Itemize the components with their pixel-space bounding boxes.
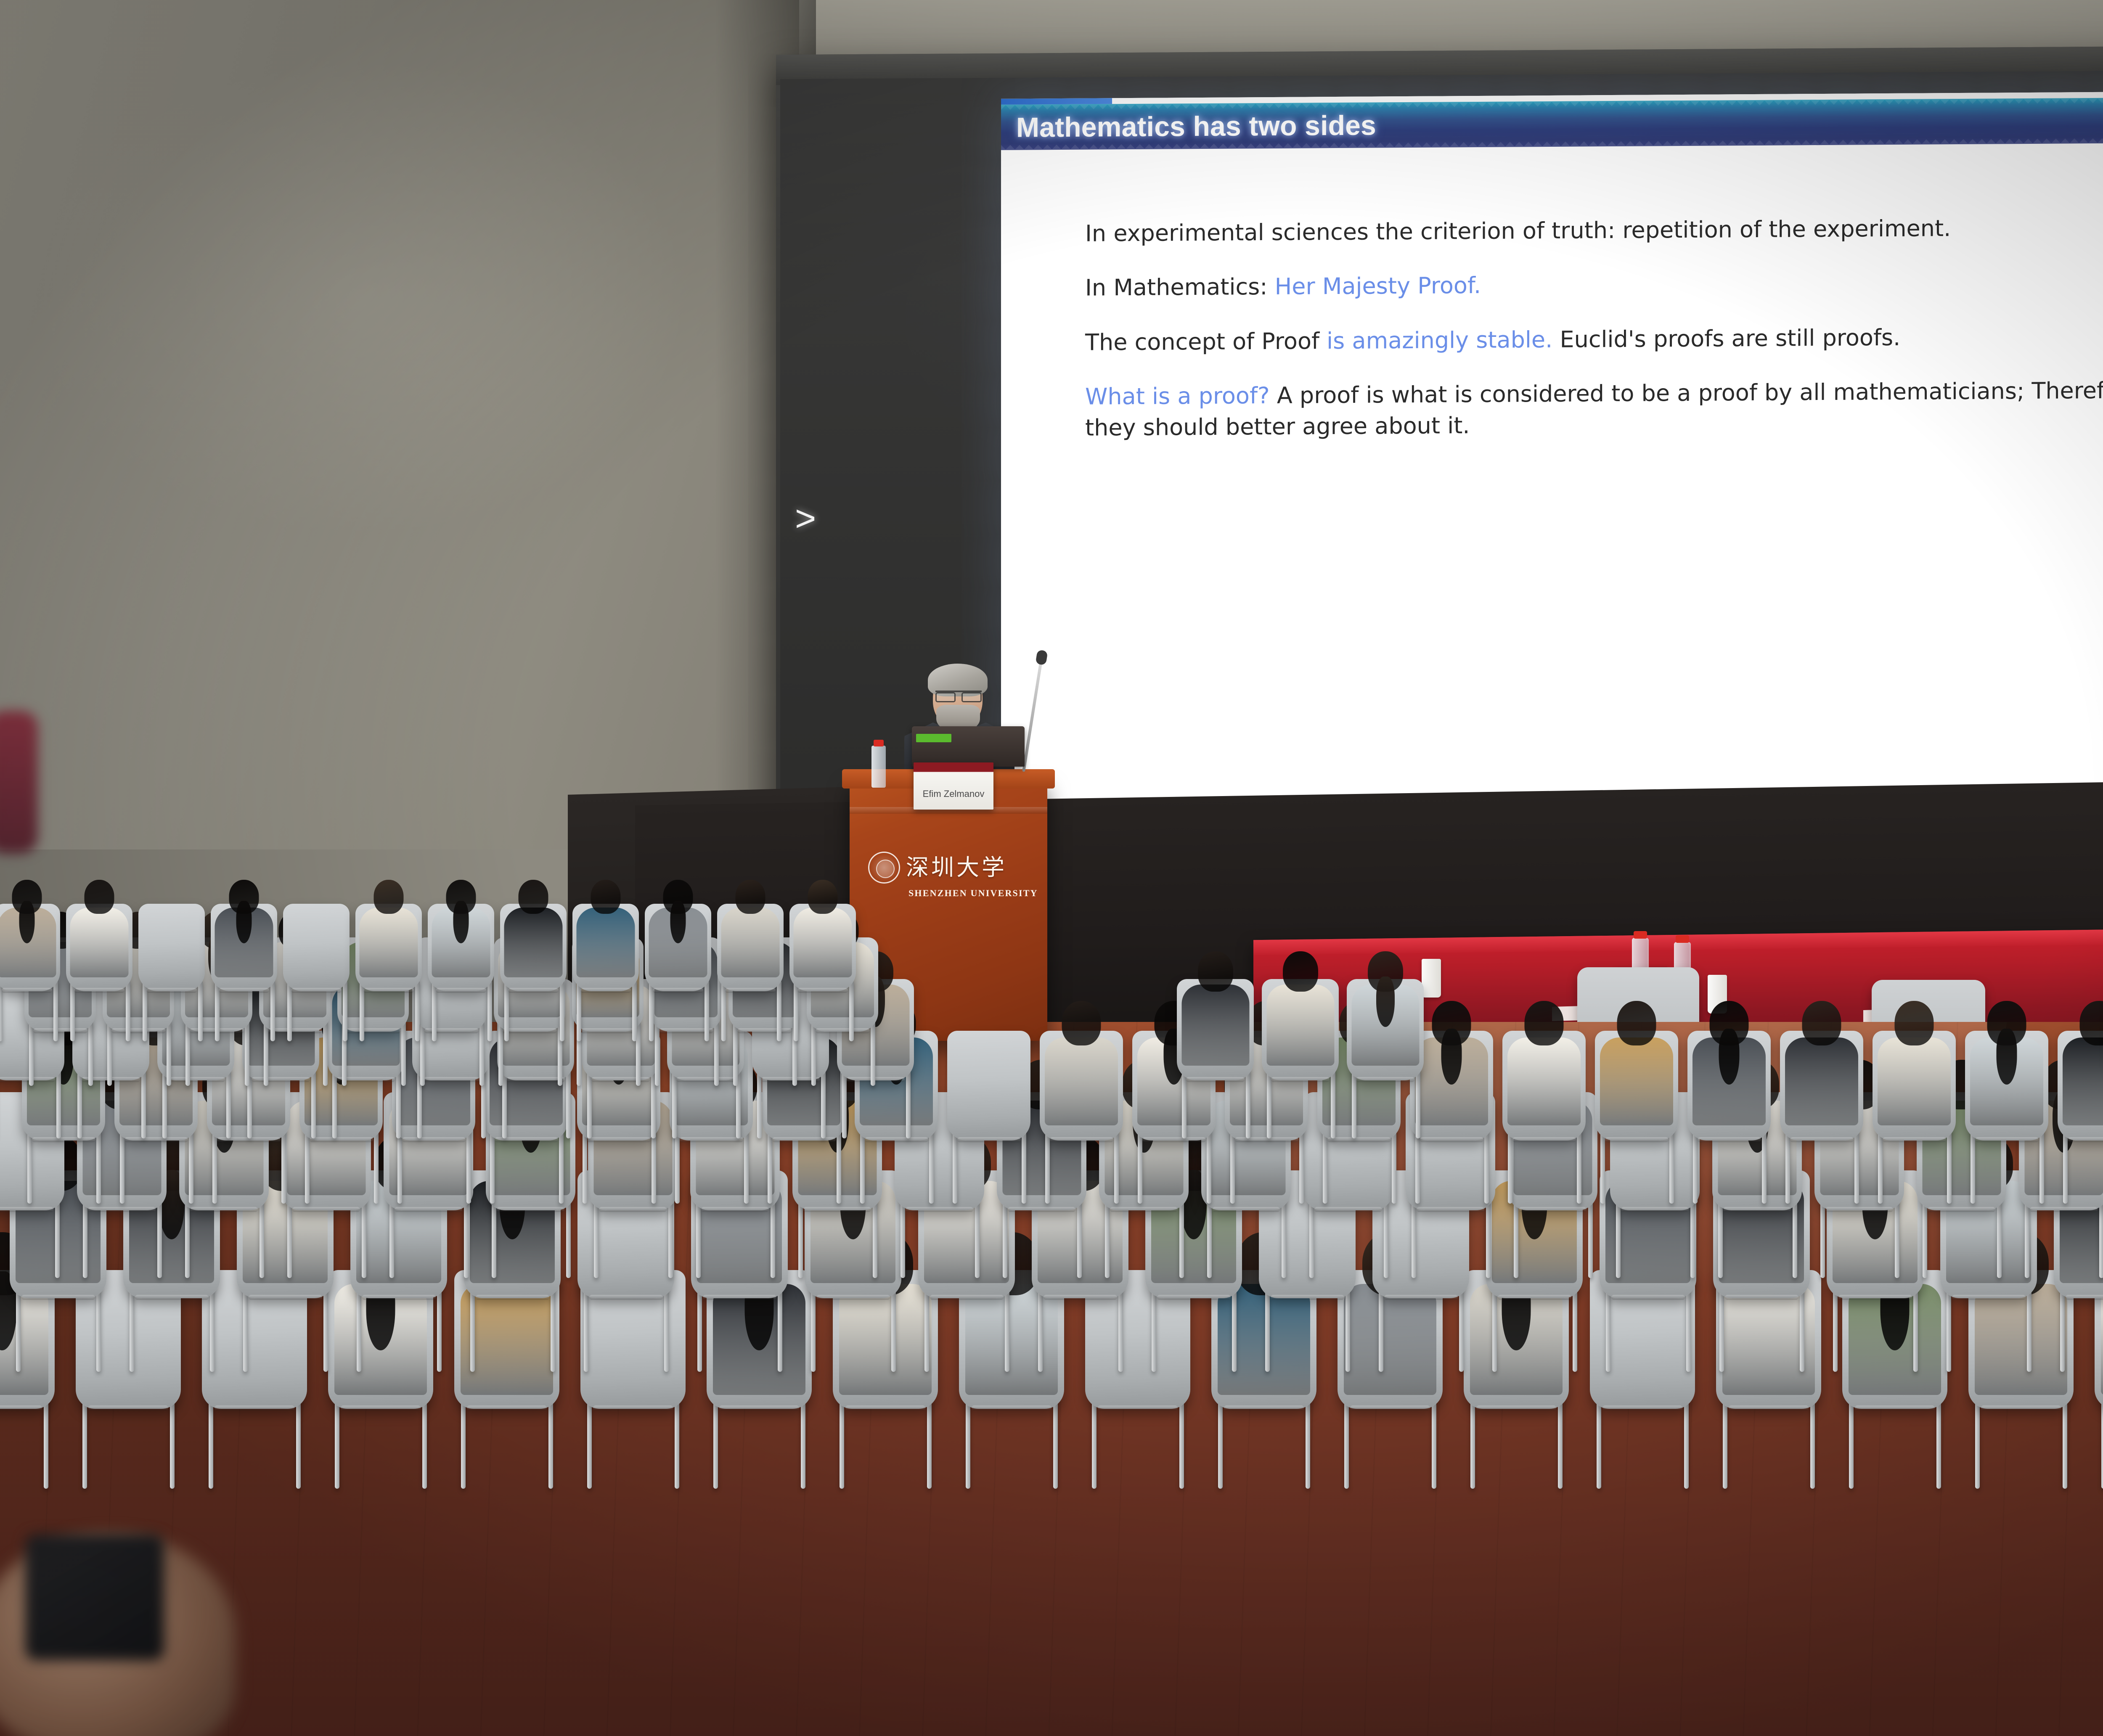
audience-member-ponytail (453, 901, 469, 943)
audience-member-head (591, 880, 621, 914)
audience-member-torso (504, 908, 563, 977)
audience-member-torso (1045, 1037, 1118, 1125)
chair-leg (55, 1196, 60, 1278)
audience-member (1347, 951, 1424, 1103)
audience-member-head (1617, 1001, 1656, 1045)
audience-member (1965, 1001, 2048, 1161)
chair-leg (664, 1283, 669, 1372)
chair-leg (1459, 1283, 1464, 1372)
audience-member-torso (1785, 1037, 1858, 1125)
audience-member (1873, 1001, 1956, 1161)
audience-member-torso (794, 908, 852, 977)
audience-member-head (808, 880, 838, 914)
body-text: In Mathematics: (1085, 273, 1275, 301)
presentation-slide: Mathematics has two sides In experimenta… (1001, 91, 2103, 826)
audience-member-ponytail (1441, 1029, 1462, 1085)
podium-branding: 深圳大学 (868, 852, 1036, 884)
slide-paragraph: In experimental sciences the criterion o… (1085, 212, 2103, 249)
university-name-en: SHENZHEN UNIVERSITY (908, 888, 1038, 899)
audience-chair (138, 904, 205, 991)
chair-leg (1690, 1196, 1695, 1278)
audience-member-torso (1181, 984, 1249, 1066)
slide-title: Mathematics has two sides (1016, 109, 1376, 143)
slide-body-text: In experimental sciences the criterion o… (1085, 212, 2103, 467)
accent-text: What is a proof? (1085, 382, 1270, 410)
audience-member (1262, 951, 1339, 1103)
chair-leg (1022, 1127, 1026, 1204)
audience-member (211, 880, 277, 1018)
audience-member (66, 880, 132, 1018)
chair-leg (1486, 1196, 1491, 1278)
foreground-phone (25, 1534, 164, 1660)
audience-member (500, 880, 567, 1018)
chair-leg (1384, 1196, 1388, 1278)
audience-member (428, 880, 494, 1018)
slide-title-bar: Mathematics has two sides (1001, 97, 2103, 150)
university-name-cn: 深圳大学 (906, 856, 1007, 879)
chair-leg (479, 1020, 484, 1086)
audience-member-head (2080, 1001, 2103, 1045)
audience-member-ponytail (236, 901, 252, 943)
audience-member-ponytail (1719, 1029, 1740, 1085)
accent-text: Her Majesty Proof. (1275, 272, 1481, 300)
audience-member-torso (360, 908, 418, 977)
audience-chair (283, 904, 350, 991)
audience-member-ponytail (1997, 1029, 2017, 1085)
slide-paragraph: What is a proof? A proof is what is cons… (1085, 375, 2103, 443)
paper-cup (1422, 959, 1441, 998)
audience-member-ponytail (19, 901, 35, 943)
chair-leg (141, 1068, 146, 1138)
audience-chair (947, 1031, 1030, 1141)
chair-leg (975, 1196, 980, 1278)
lecture-hall-scene: Mathematics has two sides In experimenta… (0, 0, 2103, 1736)
speaker-glasses (935, 691, 982, 698)
audience-member (572, 880, 639, 1018)
chair-leg (198, 980, 203, 1041)
foreground-blur-left (0, 711, 38, 854)
audience-member-head (1062, 1001, 1101, 1045)
audience-member (1595, 1001, 1678, 1161)
podium-name-card: Efim Zelmanov (914, 762, 993, 810)
audience-member (717, 880, 784, 1018)
audience-member (355, 880, 422, 1018)
audience-member-torso (577, 908, 635, 977)
water-bottle (871, 746, 886, 788)
audience-member-torso (1600, 1037, 1673, 1125)
presenter-laptop (912, 726, 1025, 767)
audience-member-head (1283, 951, 1318, 992)
audience-member-head (1895, 1001, 1934, 1045)
audience-member-head (85, 880, 114, 914)
next-slide-arrow-icon[interactable]: > (795, 500, 816, 537)
audience-member-head (1525, 1001, 1564, 1045)
audience-member-ponytail (670, 901, 686, 943)
audience-member (2058, 1001, 2103, 1161)
audience-member-torso (1507, 1037, 1581, 1125)
audience-member (1177, 951, 1254, 1103)
chair-leg (953, 1127, 957, 1204)
slide-paragraph: In Mathematics: Her Majesty Proof. (1085, 266, 2103, 304)
audience-member-torso (1266, 984, 1334, 1066)
accent-text: is amazingly stable. (1327, 326, 1552, 354)
laptop-sticker (916, 734, 951, 742)
audience-member-torso (721, 908, 780, 977)
chair-leg (1345, 1283, 1350, 1372)
audience-member-head (736, 880, 765, 914)
audience-member-head (374, 880, 404, 914)
chair-leg (821, 1068, 826, 1138)
audience-member (789, 880, 856, 1018)
chair-leg (343, 980, 347, 1041)
audience-member (1502, 1001, 1586, 1161)
audience-member-torso (1344, 1284, 1436, 1395)
wall-left (0, 0, 799, 849)
audience-member-torso (70, 908, 129, 977)
audience-member-head (519, 880, 548, 914)
university-seal-icon (868, 852, 900, 884)
body-text: Euclid's proofs are still proofs. (1552, 324, 1900, 353)
chair-leg (56, 1068, 61, 1138)
slide-paragraph: The concept of Proof is amazingly stable… (1085, 320, 2103, 358)
audience-member-ponytail (1376, 977, 1395, 1027)
audience-member (1687, 1001, 1771, 1161)
audience-member (1040, 1001, 1123, 1161)
audience-member (1780, 1001, 1863, 1161)
body-text: In experimental sciences the criterion o… (1085, 215, 1951, 247)
audience-member (0, 880, 60, 1018)
audience-member (645, 880, 711, 1018)
audience-member-head (1802, 1001, 1841, 1045)
audience-member-torso (1878, 1037, 1951, 1125)
body-text: The concept of Proof (1085, 328, 1327, 356)
audience-member-head (1198, 951, 1233, 992)
audience-member-torso (2063, 1037, 2103, 1125)
